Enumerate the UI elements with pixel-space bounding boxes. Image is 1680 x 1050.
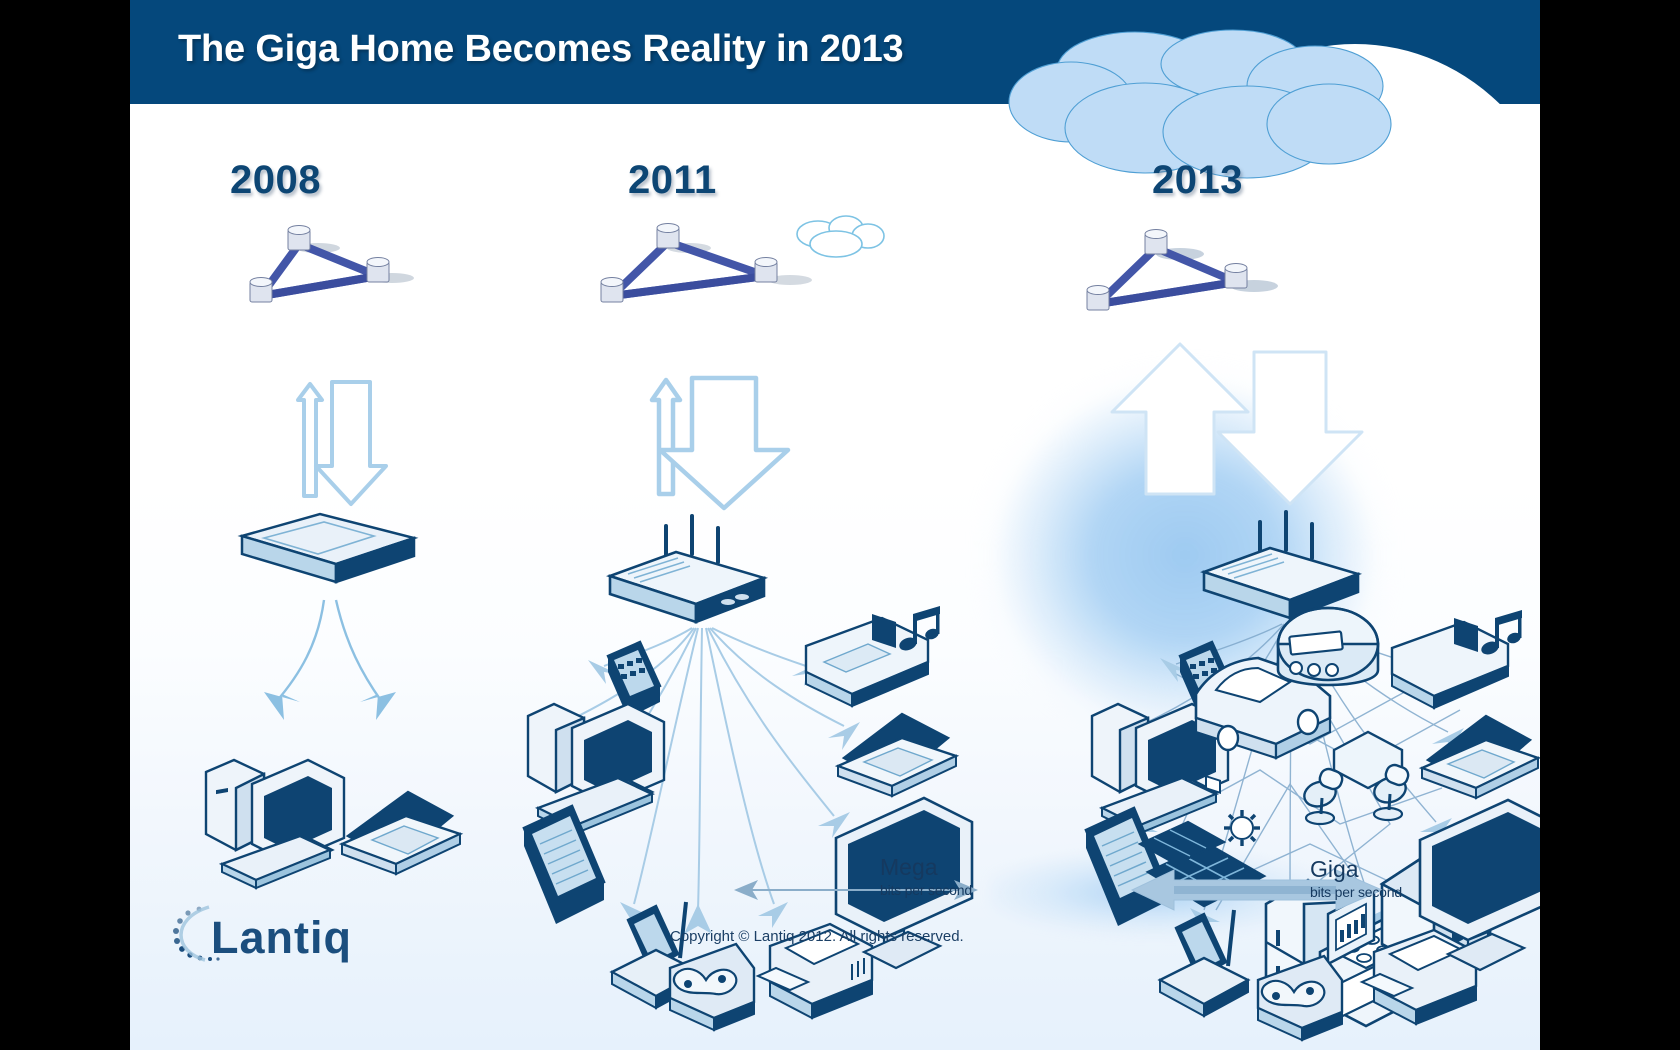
cloud-2011 [797, 216, 884, 257]
column-2013: Giga bits per second [990, 104, 1530, 1050]
mega-label: Mega [880, 854, 938, 881]
uplink-arrow-2013 [1112, 344, 1248, 494]
lantiq-logo: Lantiq [165, 895, 395, 970]
network-triangle-icon [1087, 230, 1278, 311]
media-player-icon [1392, 610, 1522, 708]
giga-label: Giga [1310, 856, 1359, 883]
downlink-arrow-2008 [316, 382, 386, 504]
year-label-2013: 2013 [1152, 158, 1243, 203]
uplink-arrow-2011 [652, 380, 680, 494]
desktop-pc-icon [206, 760, 344, 888]
mega-unit-label: bits per second [880, 882, 972, 898]
copyright-text: Copyright © Lantiq 2012. All rights rese… [670, 928, 964, 945]
media-player-icon [806, 606, 940, 706]
sun-icon [1224, 810, 1260, 846]
desktop-pc-icon [528, 704, 664, 834]
uplink-arrow-2008 [298, 384, 322, 496]
network-triangle-icon [250, 226, 414, 303]
laptop-icon [342, 792, 460, 874]
page-title: The Giga Home Becomes Reality in 2013 [178, 28, 903, 71]
downlink-arrow-2013 [1218, 352, 1362, 504]
giga-unit-label: bits per second [1310, 884, 1402, 900]
branch-arrows-2008 [276, 600, 382, 702]
cordless-phone-icon [1160, 910, 1248, 1016]
security-camera-icon [1301, 732, 1410, 824]
wifi-router-icon [610, 516, 764, 622]
smart-meter-icon [1278, 608, 1378, 685]
lantiq-wordmark: Lantiq [211, 912, 352, 963]
column-2011: Mega bits per second [500, 104, 980, 1050]
wifi-router-icon [1204, 512, 1358, 618]
game-console-icon [670, 944, 754, 1030]
dsl-modem-icon [242, 514, 414, 582]
slide-canvas: The Giga Home Becomes Reality in 2013 20… [130, 0, 1540, 1050]
network-triangle-icon [601, 224, 812, 303]
